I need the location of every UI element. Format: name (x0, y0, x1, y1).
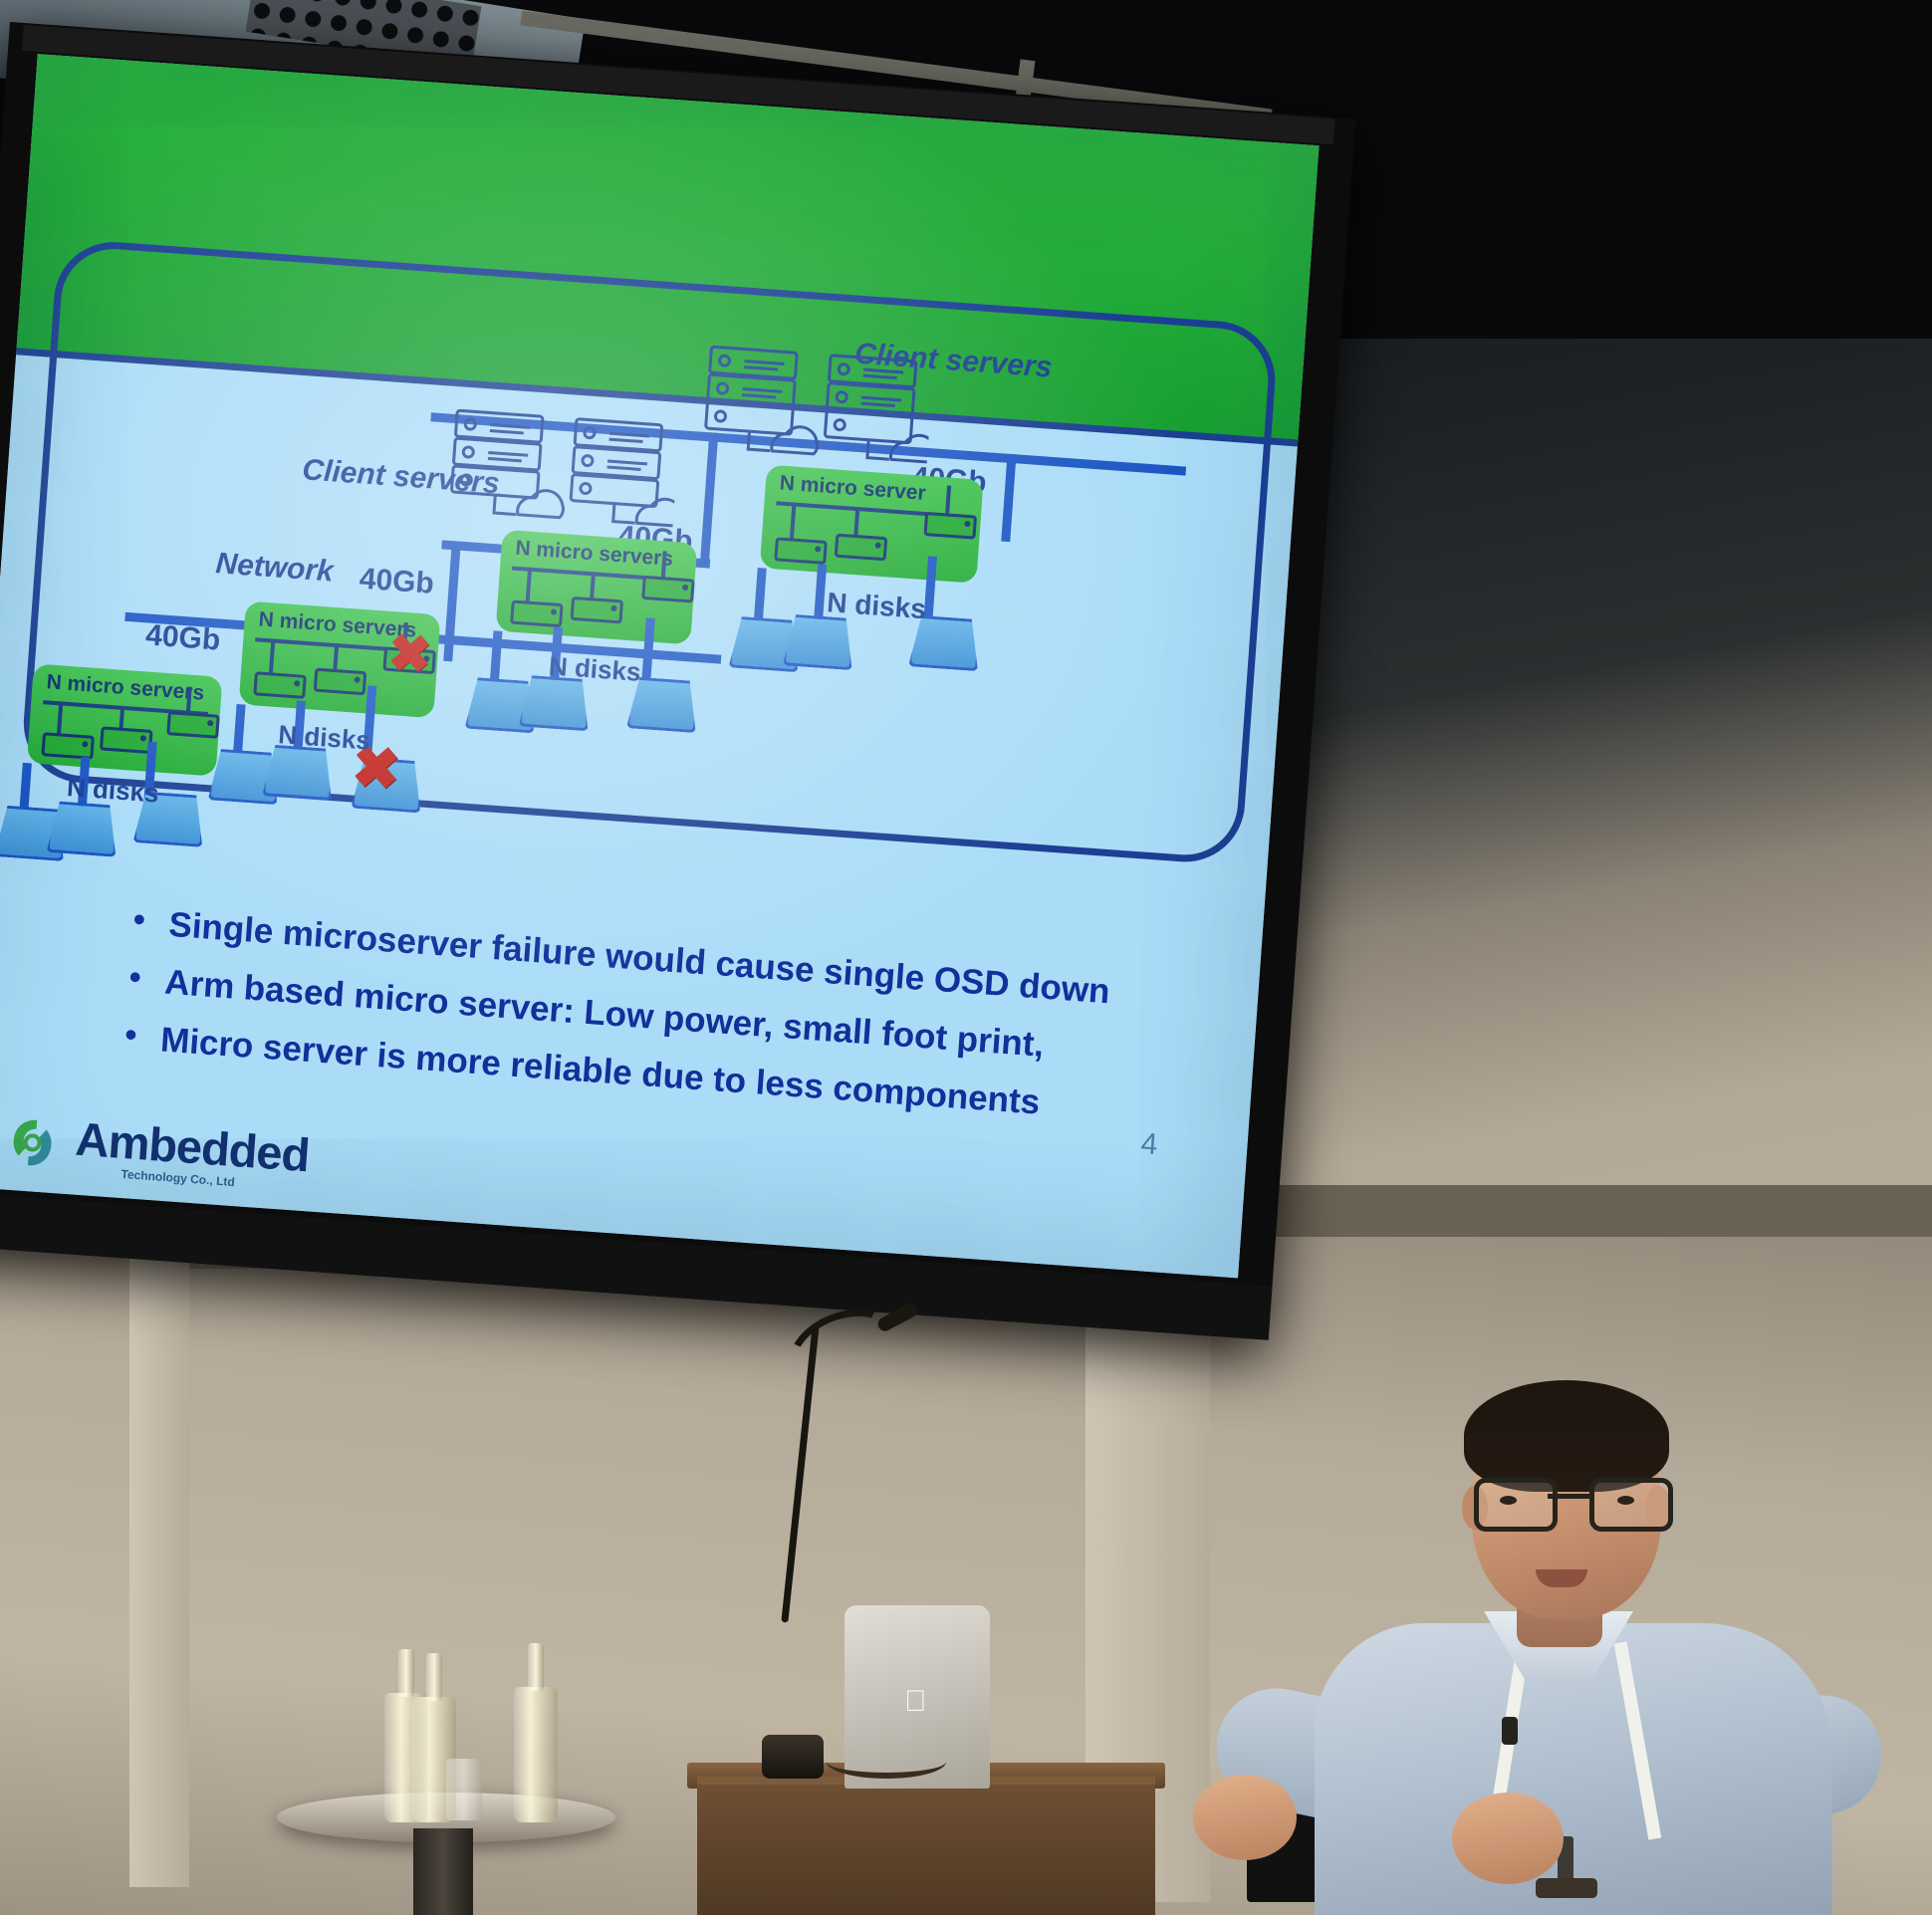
server-blade-icon (253, 671, 307, 699)
micro-server-box: N micro servers (496, 530, 698, 645)
micro-server-box: N micro servers (27, 663, 223, 776)
server-blade-icon (641, 576, 695, 603)
water-bottle (514, 1687, 558, 1822)
disk-label-2: N disks (277, 719, 370, 757)
eyeglasses-icon (1472, 1478, 1667, 1524)
projector-screen: (1) Minimize the Failure Domain Client s… (0, 22, 1356, 1340)
presenter-hand-right (1452, 1793, 1564, 1884)
presenter (1185, 1374, 1932, 1915)
server-blade-icon (923, 512, 977, 540)
podium (697, 1777, 1155, 1915)
server-blade-icon (570, 597, 623, 624)
slide-body: Client servers (0, 355, 1298, 1278)
micro-server-box: N micro servers ✖ (239, 600, 441, 718)
server-blade-icon (314, 668, 367, 696)
disk-label-3: N disks (548, 650, 641, 688)
client-server-icon-group-right (697, 343, 934, 483)
presenter-hand-left (1193, 1775, 1297, 1860)
server-blade-icon (41, 732, 95, 760)
server-blade-icon (166, 711, 220, 739)
server-blade-icon (510, 600, 564, 628)
slide-page-number: 4 (1139, 1127, 1158, 1162)
wristwatch (1536, 1878, 1597, 1898)
ambedded-swirl-icon (0, 1109, 66, 1175)
cable (827, 1745, 946, 1779)
apple-logo-icon:  (904, 1687, 930, 1717)
disk-label-1: N disks (66, 772, 159, 810)
micro-server-box: N micro server (760, 464, 984, 583)
micro-server-label: N micro servers (515, 537, 674, 572)
link-speed-label-1: 40Gb (144, 618, 221, 657)
microphone-base (762, 1735, 824, 1779)
drinking-glass (446, 1759, 482, 1820)
server-blade-icon (100, 726, 153, 754)
server-blade-icon (835, 534, 888, 562)
presentation-slide: (1) Minimize the Failure Domain Client s… (0, 54, 1319, 1278)
micro-server-label: N micro servers (46, 670, 205, 705)
micro-server-label: N micro server (779, 471, 926, 505)
failure-x-icon: ✖ (386, 627, 433, 682)
disk-icon (46, 801, 120, 857)
slide-bullet-list: Single microserver failure would cause s… (115, 902, 1220, 1153)
lapel-microphone-icon (1502, 1717, 1518, 1745)
presenter-hair (1464, 1380, 1669, 1492)
wall-pillar (129, 1190, 189, 1887)
table-pedestal (413, 1828, 473, 1915)
logo-company-name: Ambedded (74, 1115, 311, 1179)
company-logo: Ambedded Technology Co., Ltd (0, 1109, 311, 1193)
server-blade-icon (774, 537, 828, 565)
conference-room-photo: (1) Minimize the Failure Domain Client s… (0, 0, 1932, 1915)
link-speed-label-2: 40Gb (359, 563, 435, 601)
